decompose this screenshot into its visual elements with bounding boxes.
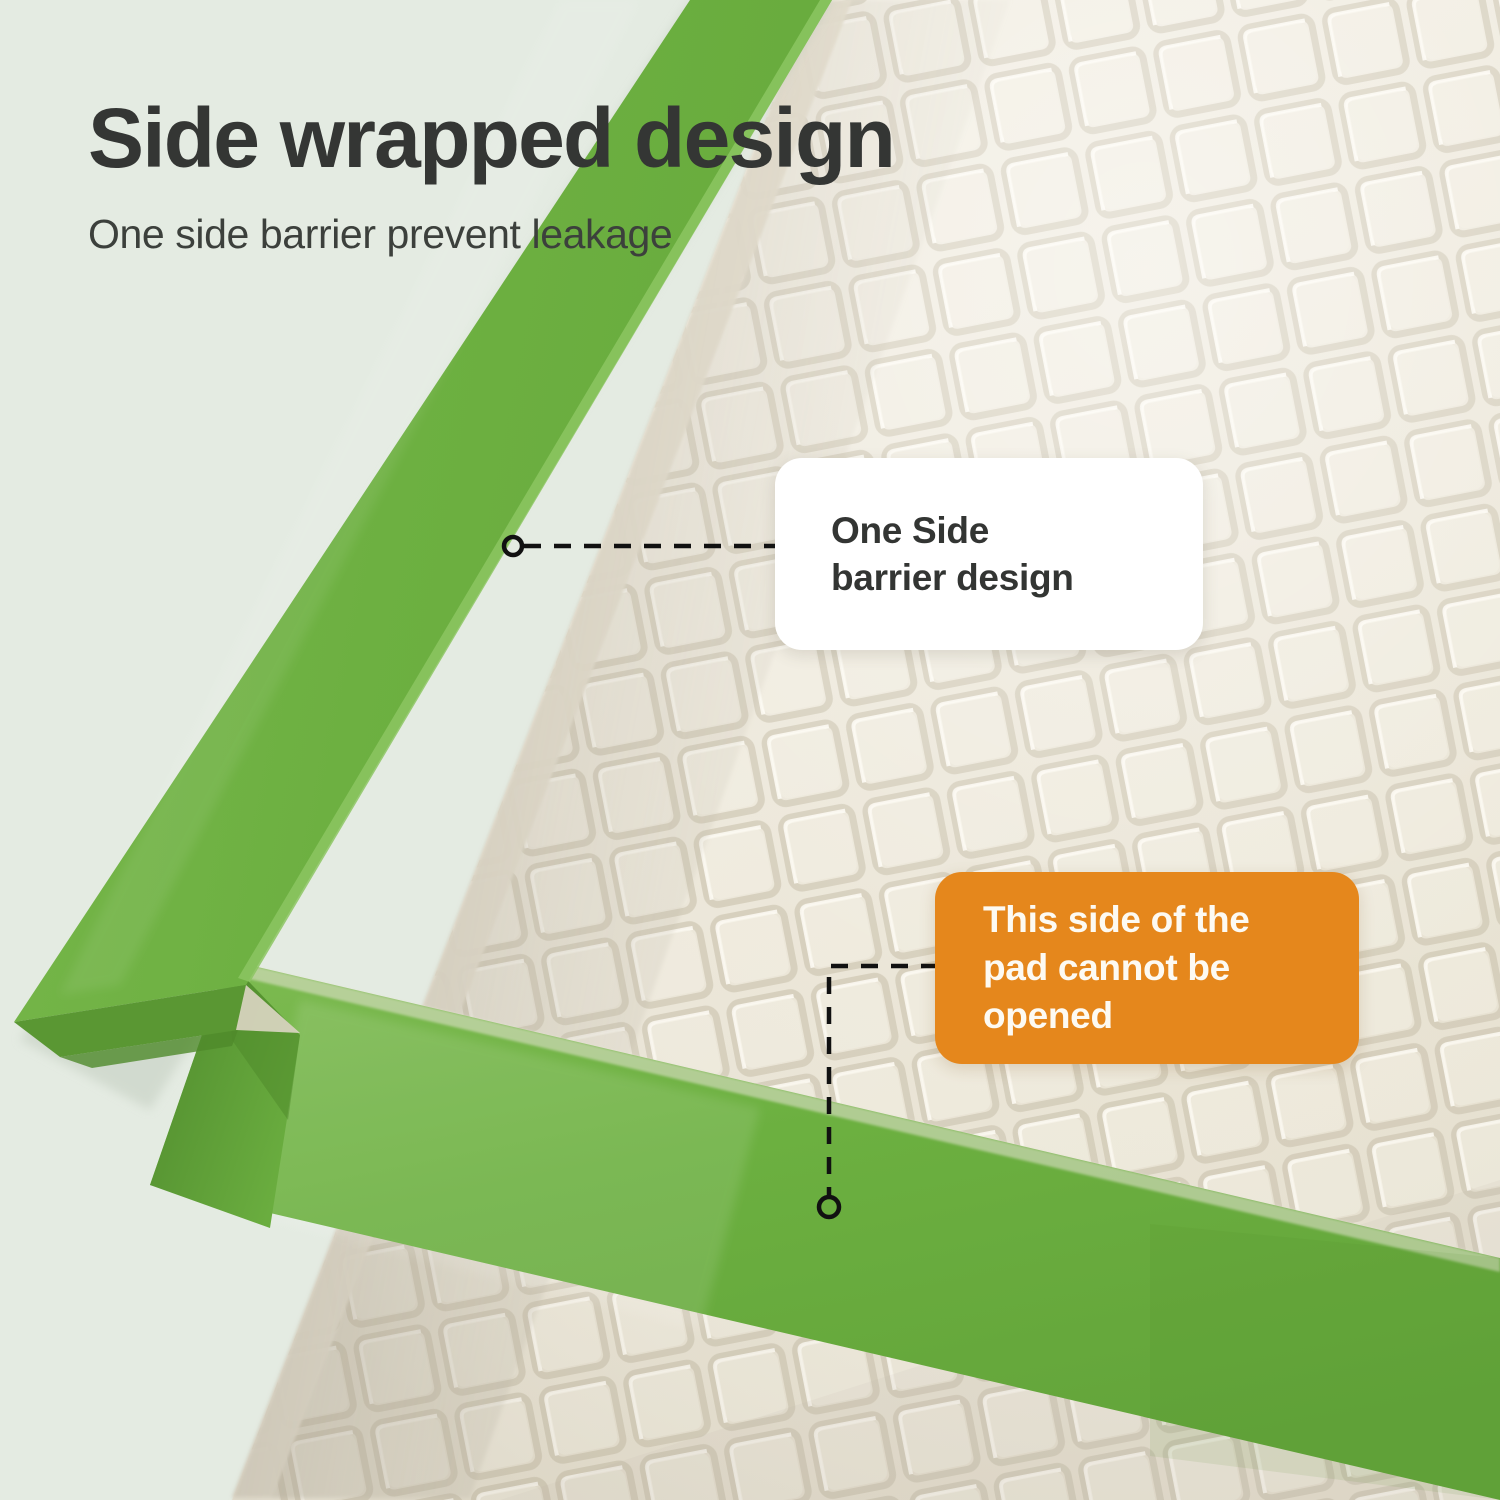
- callout-side-cannot-be-opened-text: This side of the pad cannot be opened: [983, 896, 1311, 1040]
- callout-side-cannot-be-opened: This side of the pad cannot be opened: [935, 872, 1359, 1064]
- page-title: Side wrapped design: [88, 96, 894, 180]
- page-subtitle: One side barrier prevent leakage: [88, 180, 894, 255]
- callout-one-side-barrier-text: One Side barrier design: [831, 507, 1147, 602]
- infographic-canvas: Side wrapped design One side barrier pre…: [0, 0, 1500, 1500]
- header-block: Side wrapped design One side barrier pre…: [88, 96, 894, 255]
- callout-one-side-barrier: One Side barrier design: [775, 458, 1203, 650]
